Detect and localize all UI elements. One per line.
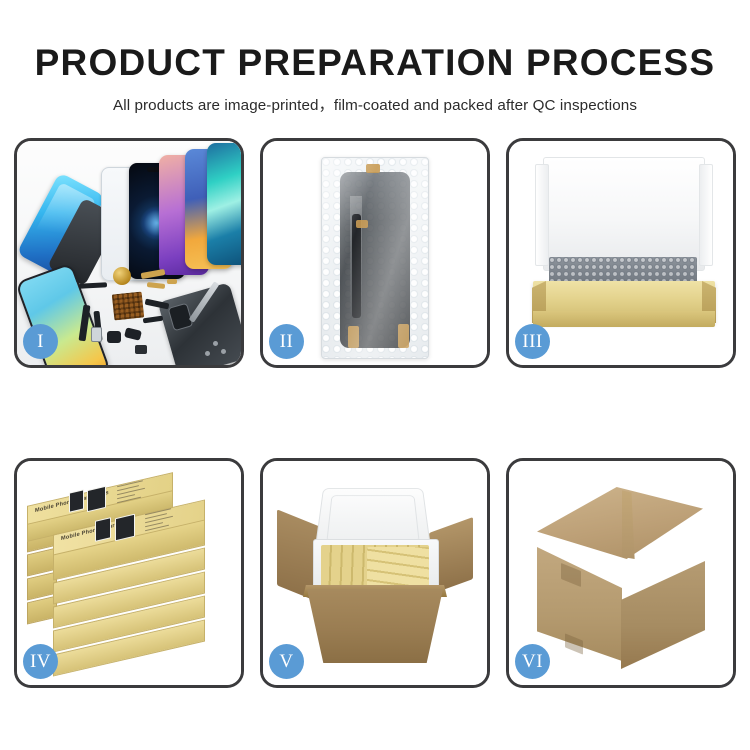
round-speaker-part (113, 267, 131, 285)
teal-wave-phone (207, 143, 241, 265)
phone-back-housing (158, 282, 241, 365)
plastic-sheen (322, 158, 428, 358)
small-component (91, 327, 102, 342)
yellow-boxes-inside (367, 547, 429, 589)
step-badge-2: II (269, 324, 304, 359)
yellow-box-front (533, 311, 715, 327)
step-panel-2[interactable]: II (260, 138, 490, 368)
box-printed-phone-image (87, 486, 106, 512)
carton-body (307, 589, 443, 663)
box-printed-phone-image (115, 514, 135, 542)
white-foam-lid (543, 157, 705, 271)
gold-chip-grid (112, 292, 145, 321)
screw (205, 351, 210, 356)
page-subtitle: All products are image-printed，film-coat… (0, 83, 750, 115)
step-badge-6: VI (515, 644, 550, 679)
gold-connector-part (147, 282, 165, 289)
flex-cable-part (143, 316, 164, 324)
step-panel-3[interactable]: III (506, 138, 736, 368)
step-panel-5[interactable]: V (260, 458, 490, 688)
screw (213, 341, 218, 346)
screw (221, 349, 226, 354)
box-printed-phone-image (69, 489, 84, 512)
step-panel-6[interactable]: VI (506, 458, 736, 688)
step-badge-3: III (515, 324, 550, 359)
flex-cable-part (107, 331, 121, 343)
step-panel-1[interactable]: I (14, 138, 244, 368)
page-title: PRODUCT PREPARATION PROCESS (0, 0, 750, 83)
step-badge-1: I (23, 324, 58, 359)
step-badge-5: V (269, 644, 304, 679)
header: PRODUCT PREPARATION PROCESS All products… (0, 0, 750, 115)
step-badge-4: IV (23, 644, 58, 679)
gold-connector-part (167, 279, 177, 284)
flex-cable-part (79, 282, 107, 288)
box-printed-phone-image (95, 517, 111, 542)
small-component (135, 345, 147, 354)
carton-top-face (537, 487, 703, 559)
flex-cable-part (124, 327, 142, 341)
step-panel-4[interactable]: Mobile Phone Spare Parts Mobile Phone Sp… (14, 458, 244, 688)
carton-right-face (621, 561, 705, 669)
bubble-wrap-bag (321, 157, 429, 359)
